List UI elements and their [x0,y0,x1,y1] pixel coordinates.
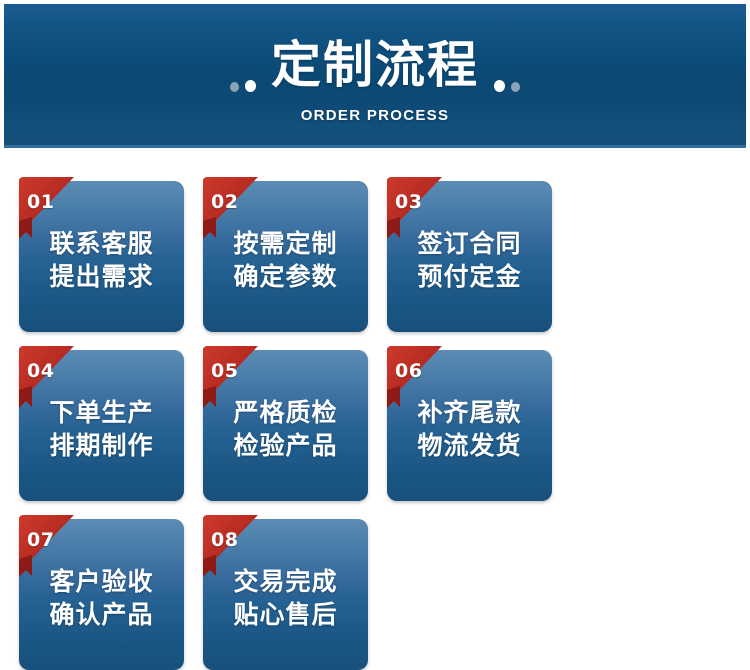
decorative-dot [494,80,505,92]
step-card-grid: 01 联系客服 提出需求 02 按需定制 确定参数 [19,181,731,670]
step-line-2: 检验产品 [203,429,368,462]
step-number: 02 [211,193,238,212]
decorative-dot [230,82,239,92]
step-line-2: 提出需求 [19,260,184,293]
header-banner-content: 定制流程 ORDER PROCESS [4,4,746,148]
title-row: 定制流程 [227,33,523,97]
order-process-infographic: 定制流程 ORDER PROCESS [0,0,750,520]
step-number: 04 [27,362,54,381]
step-line-2: 确定参数 [203,260,368,293]
step-line-2: 预付定金 [387,260,552,293]
page-title: 定制流程 [271,37,479,93]
step-line-2: 排期制作 [19,429,184,462]
decorative-dot [511,82,520,92]
step-card: 03 签订合同 预付定金 [387,181,552,332]
title-dots-left [227,32,259,98]
step-number: 05 [211,362,238,381]
step-number: 03 [395,193,422,212]
step-card: 02 按需定制 确定参数 [203,181,368,332]
step-line-2: 物流发货 [387,429,552,462]
step-number: 07 [27,531,54,550]
step-card: 05 严格质检 检验产品 [203,350,368,501]
header-banner: 定制流程 ORDER PROCESS [4,4,746,148]
step-line-2: 确认产品 [19,598,184,631]
step-card: 06 补齐尾款 物流发货 [387,350,552,501]
step-number: 01 [27,193,54,212]
step-card: 04 下单生产 排期制作 [19,350,184,501]
title-dots-right [491,32,523,98]
step-card: 08 交易完成 贴心售后 [203,519,368,670]
step-card: 01 联系客服 提出需求 [19,181,184,332]
step-line-2: 贴心售后 [203,598,368,631]
step-number: 08 [211,531,238,550]
step-card: 07 客户验收 确认产品 [19,519,184,670]
page-subtitle: ORDER PROCESS [301,107,450,124]
decorative-dot [245,80,256,92]
step-number: 06 [395,362,422,381]
